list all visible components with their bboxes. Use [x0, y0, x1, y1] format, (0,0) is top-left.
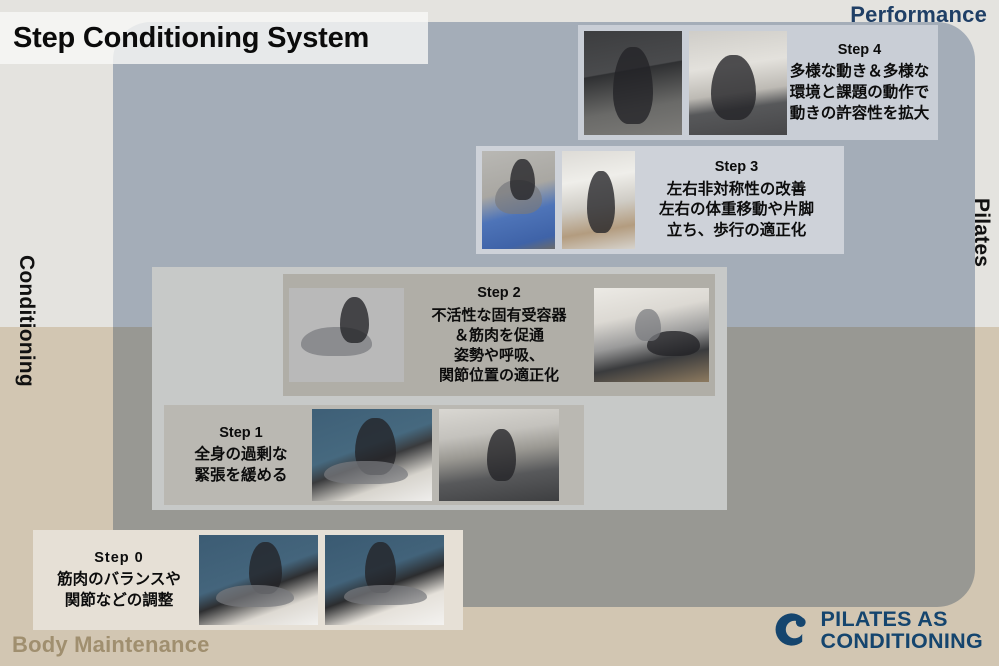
step3-text: Step 3 左右非対称性の改善 左右の体重移動や片脚 立ち、歩行の適正化 [635, 158, 838, 242]
step4-line-1: 多様な動き＆多様な [787, 62, 932, 83]
step4-line-3: 動きの許容性を拡大 [787, 104, 932, 125]
step2-line-2: ＆筋肉を促通 [404, 326, 594, 346]
axis-label-body-maintenance: Body Maintenance [12, 632, 210, 658]
step4-line-2: 環境と課題の動作で [787, 83, 932, 104]
step2-photo-right [594, 288, 709, 382]
step2-number: Step 2 [404, 284, 594, 303]
axis-label-conditioning: Conditioning [14, 255, 38, 387]
step1-text: Step 1 全身の過剰な 緊張を緩める [170, 424, 312, 487]
step0-line-2: 関節などの調整 [39, 591, 199, 612]
step-card-step1[interactable]: Step 1 全身の過剰な 緊張を緩める [164, 405, 584, 505]
page-title: Step Conditioning System [0, 12, 428, 64]
slide-canvas: Performance Body Maintenance Conditionin… [0, 0, 999, 666]
step3-line-2: 左右の体重移動や片脚 [635, 200, 838, 221]
photo-supine-reformer-arm-spring-work [594, 288, 709, 382]
photo-athlete-band-resisted-lunge-studio [689, 31, 787, 135]
step3-line-3: 立ち、歩行の適正化 [635, 221, 838, 242]
step-card-step2[interactable]: Step 2 不活性な固有受容器 ＆筋肉を促通 姿勢や呼吸、 関節位置の適正化 [283, 274, 715, 396]
step3-photo-row [482, 151, 635, 249]
photo-side-plank-on-blue-mat-with-trainer [482, 151, 555, 249]
step2-description: 不活性な固有受容器 ＆筋肉を促通 姿勢や呼吸、 関節位置の適正化 [404, 306, 594, 386]
step2-text: Step 2 不活性な固有受容器 ＆筋肉を促通 姿勢や呼吸、 関節位置の適正化 [404, 284, 594, 386]
step2-line-4: 関節位置の適正化 [404, 366, 594, 386]
photo-single-leg-balance-standing-reach [562, 151, 635, 249]
step0-description: 筋肉のバランスや 関節などの調整 [39, 570, 199, 612]
step-card-step4[interactable]: Step 4 多様な動き＆多様な 環境と課題の動作で 動きの許容性を拡大 [578, 25, 938, 140]
photo-standing-side-bend-stretch-in-studio [439, 409, 559, 501]
step4-description: 多様な動き＆多様な 環境と課題の動作で 動きの許容性を拡大 [787, 62, 932, 124]
step1-photo-row [312, 409, 559, 501]
photo-supine-manual-release-on-table [312, 409, 432, 501]
step2-photo-left [289, 288, 404, 382]
photo-supine-leg-assessment-on-treatment-table [325, 535, 444, 625]
photo-supine-arm-assessment-on-treatment-table [199, 535, 318, 625]
brand-wordmark: PILATES AS CONDITIONING [821, 608, 983, 652]
axis-label-pilates: Pilates [969, 198, 993, 267]
step0-photo-row [199, 535, 444, 625]
photo-quadruped-reach-on-box-with-cue [289, 288, 404, 382]
step1-line-2: 緊張を緩める [170, 466, 312, 487]
step-card-step0[interactable]: Step 0 筋肉のバランスや 関節などの調整 [33, 530, 463, 630]
step-card-step3[interactable]: Step 3 左右非対称性の改善 左右の体重移動や片脚 立ち、歩行の適正化 [476, 146, 844, 254]
step0-line-1: 筋肉のバランスや [39, 570, 199, 591]
brand-line-1: PILATES AS [821, 608, 983, 630]
step0-text: Step 0 筋肉のバランスや 関節などの調整 [39, 549, 199, 612]
step1-line-1: 全身の過剰な [170, 445, 312, 466]
step4-photo-row [584, 31, 787, 135]
step2-line-1: 不活性な固有受容器 [404, 306, 594, 326]
page-title-text: Step Conditioning System [0, 22, 369, 55]
step4-text: Step 4 多様な動き＆多様な 環境と課題の動作で 動きの許容性を拡大 [787, 41, 932, 125]
brand-line-2: CONDITIONING [821, 630, 983, 652]
step3-number: Step 3 [635, 158, 838, 177]
step2-line-3: 姿勢や呼吸、 [404, 346, 594, 366]
step1-description: 全身の過剰な 緊張を緩める [170, 445, 312, 487]
step4-number: Step 4 [787, 41, 932, 60]
brand-logo: PILATES AS CONDITIONING [768, 608, 983, 652]
step1-number: Step 1 [170, 424, 312, 443]
step0-number: Step 0 [39, 549, 199, 568]
step3-line-1: 左右非対称性の改善 [635, 180, 838, 201]
c-ring-dot-icon [768, 608, 811, 651]
photo-athlete-medicine-ball-dark-gym [584, 31, 682, 135]
step3-description: 左右非対称性の改善 左右の体重移動や片脚 立ち、歩行の適正化 [635, 180, 838, 242]
